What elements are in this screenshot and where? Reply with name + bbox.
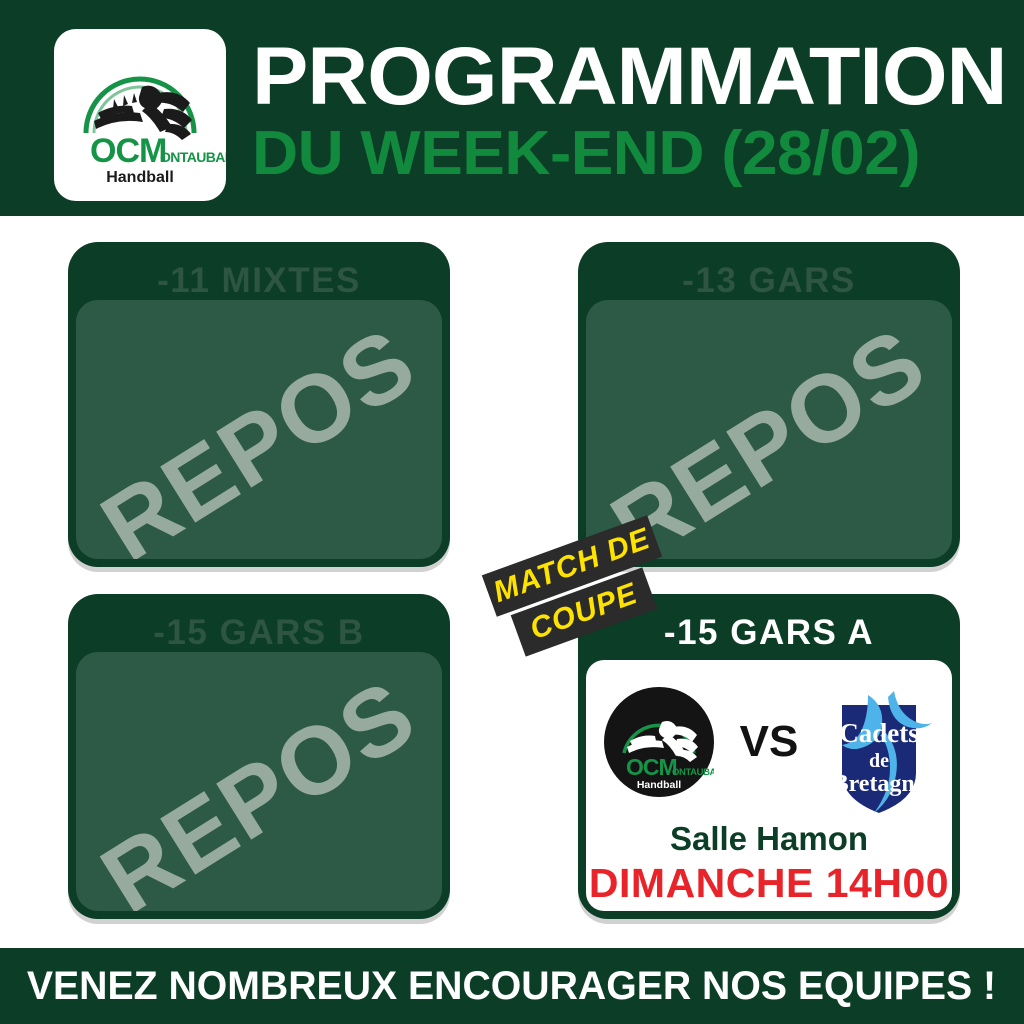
svg-text:de: de — [869, 750, 889, 772]
repos-watermark: REPOS — [83, 659, 435, 911]
svg-text:OCM: OCM — [90, 132, 166, 170]
card-title: -13 GARS — [578, 242, 960, 320]
vs-label: VS — [740, 717, 799, 767]
svg-text:Handball: Handball — [106, 169, 174, 186]
title-block: PROGRAMMATION DU WEEK-END (28/02) — [252, 38, 992, 185]
svg-text:ONTAUBAN: ONTAUBAN — [160, 149, 226, 165]
card-title: -15 GARS A — [578, 594, 960, 672]
ocm-logo-icon: OCM ONTAUBAN Handball — [54, 29, 226, 201]
card-body: REPOS — [76, 652, 442, 911]
team-card-u15-gars-b[interactable]: -15 GARS B REPOS — [68, 594, 450, 919]
svg-text:OCM: OCM — [626, 754, 677, 780]
header-band: OCM ONTAUBAN Handball PROGRAMMATION DU W… — [0, 0, 1024, 216]
match-teams-row: OCM ONTAUBAN Handball VS — [586, 668, 952, 816]
card-body: OCM ONTAUBAN Handball VS — [586, 660, 952, 911]
team-cards-grid: -11 MIXTES REPOS -13 GARS REPOS -15 GARS… — [0, 216, 1024, 948]
poster-root: OCM ONTAUBAN Handball PROGRAMMATION DU W… — [0, 0, 1024, 1024]
page-title: PROGRAMMATION — [252, 38, 1014, 117]
svg-text:Handball: Handball — [636, 779, 680, 791]
svg-text:Cadets: Cadets — [840, 718, 920, 748]
card-body: REPOS — [586, 300, 952, 559]
team-card-u11-mixtes[interactable]: -11 MIXTES REPOS — [68, 242, 450, 567]
repos-watermark: REPOS — [593, 307, 945, 559]
page-subtitle: DU WEEK-END (28/02) — [252, 123, 1014, 185]
card-title: -15 GARS B — [68, 594, 450, 672]
card-title: -11 MIXTES — [68, 242, 450, 320]
card-body: REPOS — [76, 300, 442, 559]
match-venue: Salle Hamon — [586, 820, 952, 858]
club-logo-tile: OCM ONTAUBAN Handball — [54, 29, 226, 201]
team-card-u13-gars[interactable]: -13 GARS REPOS — [578, 242, 960, 567]
away-team-logo-icon: Cadets de Bretagne — [824, 687, 934, 797]
match-datetime: DIMANCHE 14H00 — [586, 860, 952, 907]
footer-message: VENEZ NOMBREUX ENCOURAGER NOS EQUIPES ! — [27, 964, 996, 1009]
home-team-logo-icon: OCM ONTAUBAN Handball — [604, 687, 714, 797]
repos-watermark: REPOS — [83, 307, 435, 559]
svg-text:Bretagne: Bretagne — [833, 771, 926, 797]
footer-band: VENEZ NOMBREUX ENCOURAGER NOS EQUIPES ! — [0, 948, 1024, 1024]
svg-text:ONTAUBAN: ONTAUBAN — [672, 767, 714, 778]
team-card-u15-gars-a[interactable]: -15 GARS A — [578, 594, 960, 919]
